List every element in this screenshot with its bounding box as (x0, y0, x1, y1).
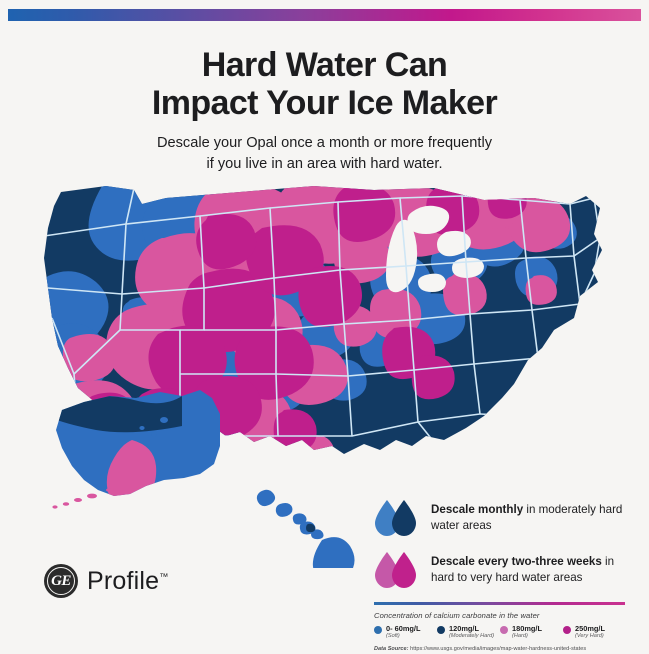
concentration-title: Concentration of calcium carbonate in th… (374, 611, 630, 620)
scale-qualifier-moderately-hard: (Moderately Hard) (449, 633, 494, 639)
subtitle-line-1: Descale your Opal once a month or more f… (0, 133, 649, 154)
concentration-scale: 0- 60mg/L (Soft) 120mg/L (Moderately Har… (374, 625, 630, 640)
scale-item-moderately-hard: 120mg/L (Moderately Hard) (437, 625, 500, 640)
headline-line-1: Hard Water Can (202, 46, 447, 84)
scale-dot-soft (374, 626, 382, 634)
subtitle-line-2: if you live in an area with hard water. (0, 154, 649, 175)
water-drop-pair-blue-icon (372, 498, 420, 540)
headline-line-2: Impact Your Ice Maker (0, 84, 649, 122)
map-alaska-inset (44, 383, 234, 510)
ge-monogram-text: GE (51, 574, 71, 589)
scale-dot-hard (500, 626, 508, 634)
legend-row-hard: Descale every two-three weeks in hard to… (372, 550, 630, 592)
data-source-url[interactable]: https://www.usgs.gov/media/images/map-wa… (410, 646, 586, 652)
scale-item-very-hard: 250mg/L (Very Hard) (563, 625, 626, 640)
legend-text-hard: Descale every two-three weeks in hard to… (431, 550, 630, 585)
scale-value-soft: 0- 60mg/L (386, 625, 421, 633)
water-drop-pair-pink-icon (372, 550, 420, 592)
scale-dot-moderately-hard (437, 626, 445, 634)
profile-wordmark-text: Profile (87, 567, 159, 595)
scale-value-very-hard: 250mg/L (575, 625, 605, 633)
legend-panel: Descale monthly in moderately hard water… (372, 498, 630, 652)
legend-divider (374, 602, 625, 605)
scale-item-hard: 180mg/L (Hard) (500, 625, 563, 640)
scale-dot-very-hard (563, 626, 571, 634)
scale-value-moderately-hard: 120mg/L (449, 625, 494, 633)
profile-wordmark: Profile™ (87, 567, 168, 596)
ge-profile-logo: GE Profile™ (44, 564, 168, 598)
infographic-poster: Hard Water Can Impact Your Ice Maker Des… (0, 0, 649, 654)
data-source-label: Data Source: (374, 646, 409, 652)
legend-bold-moderate: Descale monthly (431, 503, 523, 516)
top-gradient-bar (8, 9, 641, 21)
scale-qualifier-hard: (Hard) (512, 633, 542, 639)
data-source: Data Source: https://www.usgs.gov/media/… (374, 646, 630, 652)
subtitle: Descale your Opal once a month or more f… (0, 133, 649, 175)
trademark-symbol: ™ (159, 571, 168, 581)
scale-item-soft: 0- 60mg/L (Soft) (374, 625, 437, 640)
map-hawaii-inset (257, 490, 355, 568)
scale-qualifier-soft: (Soft) (386, 633, 421, 639)
legend-bold-hard: Descale every two-three weeks (431, 555, 602, 568)
scale-value-hard: 180mg/L (512, 625, 542, 633)
legend-text-moderate: Descale monthly in moderately hard water… (431, 498, 630, 533)
scale-qualifier-very-hard: (Very Hard) (575, 633, 605, 639)
ge-monogram-icon: GE (44, 564, 78, 598)
page-title: Hard Water Can Impact Your Ice Maker (0, 46, 649, 122)
legend-row-moderate: Descale monthly in moderately hard water… (372, 498, 630, 540)
